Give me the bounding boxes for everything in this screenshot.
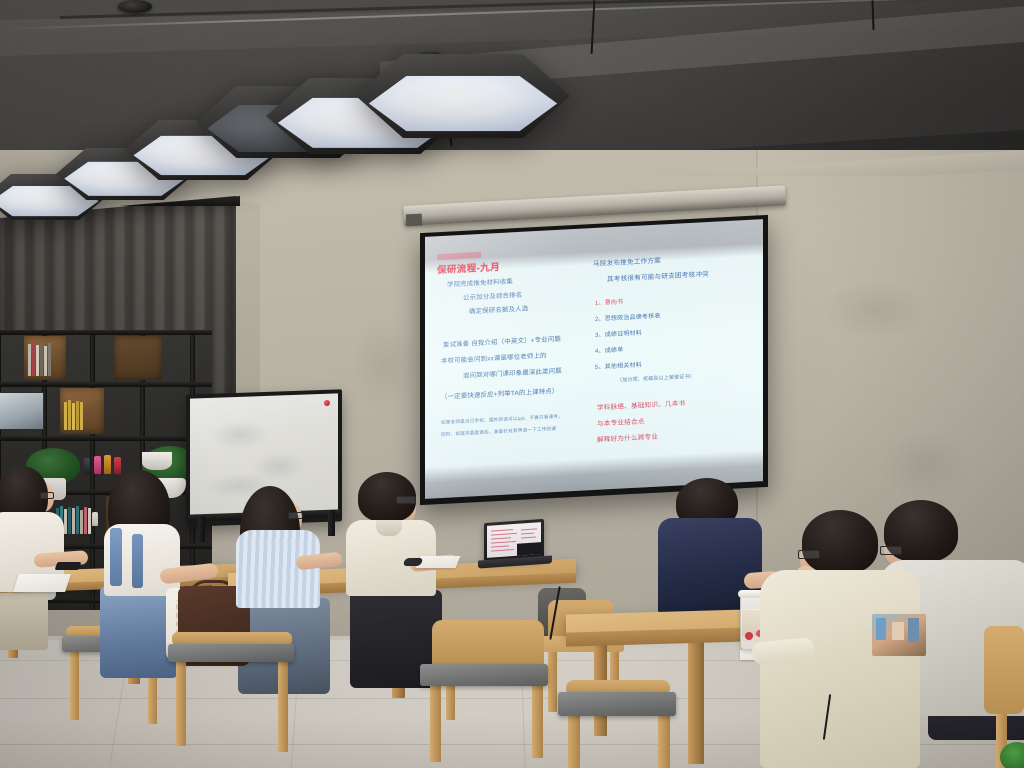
person-4-collar xyxy=(376,520,402,536)
picture-frame xyxy=(0,392,44,430)
projection-screen: 保研流程-九月 学院完成推免材料收集 公示加分及综合排名 确定保研名额及人选 复… xyxy=(425,219,763,499)
person-7-glasses xyxy=(880,546,902,555)
slide-title: 保研流程-九月 xyxy=(437,259,500,276)
slide-left-line: 或问到对哪门课印象最深此类问题 xyxy=(463,366,562,380)
person-2-overall-strap xyxy=(110,528,122,586)
wall-smudge xyxy=(350,320,420,410)
person-6-tshirt xyxy=(760,570,920,768)
slide-right-heading: 马院发布推免工作方案 xyxy=(593,254,661,268)
red-magnet xyxy=(324,400,330,406)
paper-sheet xyxy=(13,574,71,592)
person-3-glasses xyxy=(288,512,303,519)
slide-right-red-line: 解释好为什么跨专业 xyxy=(597,431,658,444)
chair-cushion xyxy=(420,664,548,686)
slide-right-note: （加分项、校级及以上荣誉证书） xyxy=(617,373,695,384)
whiteboard-leg xyxy=(198,516,205,542)
ceramic-bowl-stack xyxy=(142,452,172,470)
decorative-bottle xyxy=(84,458,90,474)
slide-left-line: （一定要快速反应+列举TA的上课特点） xyxy=(441,386,558,401)
books xyxy=(64,400,83,430)
table-leg xyxy=(688,636,704,764)
slide-left-line: 复试准备 自我介绍（中英文）+专业问题 xyxy=(443,334,561,349)
person-1-glasses xyxy=(40,492,54,499)
slide-right-list-item: 4、成绩单 xyxy=(595,344,623,354)
slide-right-heading: 其考核很有可能与研支团考核冲突 xyxy=(607,268,709,283)
whiteboard-leg xyxy=(328,510,335,536)
cup-label-graphic xyxy=(745,632,753,640)
ceiling-vent xyxy=(118,0,152,13)
decorative-bottle xyxy=(94,456,101,474)
mobile-phone xyxy=(55,562,82,570)
decorative-bottle xyxy=(92,512,98,526)
chair-cushion xyxy=(168,644,294,662)
notebook xyxy=(416,556,461,568)
slide-right-list-item: 3、成绩证明材料 xyxy=(595,327,642,338)
decorative-bottle xyxy=(114,457,121,474)
person-6-glasses xyxy=(798,550,820,559)
chair-leg xyxy=(568,714,580,768)
tshirt-graphic-detail xyxy=(876,618,886,640)
screen-bracket xyxy=(406,214,423,227)
decorative-bottle xyxy=(104,455,111,474)
hexagonal-pendant-lamp xyxy=(356,54,570,138)
wooden-storage-box xyxy=(114,336,162,380)
books xyxy=(28,342,51,376)
slide-left-line: 确定保研名额及人选 xyxy=(469,303,528,315)
chair-leg xyxy=(70,650,79,720)
person-4-glasses xyxy=(396,496,416,504)
chair-leg xyxy=(548,650,557,712)
slide-accent-bar xyxy=(437,252,481,260)
laptop-screen xyxy=(487,522,541,558)
person-2-overall-strap xyxy=(132,534,143,588)
slide-right-list-item: 5、其他相关材料 xyxy=(595,359,642,370)
chair-leg xyxy=(430,684,441,762)
slide-left-footnote: 同时，如逐评委是谁后，准备针对其申请一下工作的课 xyxy=(441,426,556,438)
slide-right-list-item: 2、思想政治品德考核表 xyxy=(595,311,661,323)
chair-cushion xyxy=(558,692,676,716)
slide-right-red-line: 与本专业结合点 xyxy=(597,415,645,427)
wooden-chair-back xyxy=(984,626,1024,714)
slide-left-line: 公示加分及综合排名 xyxy=(463,290,522,302)
presentation-slide: 保研流程-九月 学院完成推免材料收集 公示加分及综合排名 确定保研名额及人选 复… xyxy=(425,231,763,479)
slide-right-list-item: 1、意向书 xyxy=(595,296,623,306)
slide-right-red-line: 学科脉络、基础知识、几本书 xyxy=(597,397,685,412)
slide-left-footnote: 如果老师是自己学校、国外的话可以ppt、不要只看课件， xyxy=(441,414,563,426)
slide-left-line: 学院完成推免材料收集 xyxy=(447,276,513,288)
person-6-hair xyxy=(802,510,878,574)
wall-smudge xyxy=(880,430,970,500)
chair-leg xyxy=(176,660,186,746)
chair-leg xyxy=(532,684,543,758)
wooden-chair-back xyxy=(432,620,544,666)
photo-scene: 保研流程-九月 学院完成推免材料收集 公示加分及综合排名 确定保研名额及人选 复… xyxy=(0,0,1024,768)
chair-leg xyxy=(658,714,670,768)
slide-left-line: 本校可能会问到xx课是哪位老师上的 xyxy=(441,350,547,365)
chair-leg xyxy=(278,660,288,752)
tshirt-graphic-detail xyxy=(908,618,919,642)
wall-smudge xyxy=(820,280,930,340)
tshirt-graphic-detail xyxy=(892,622,904,640)
potted-plant xyxy=(1000,742,1024,768)
